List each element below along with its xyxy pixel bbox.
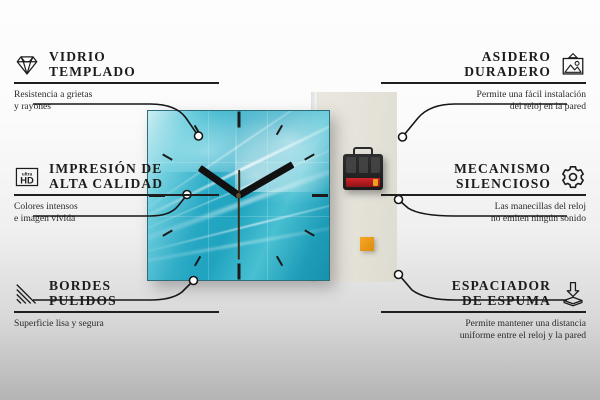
feature-header: ESPACIADOR DE ESPUMA — [381, 279, 586, 308]
feature-bordes-pulidos: BORDES PULIDOS Superficie lisa y segura — [14, 279, 219, 330]
gear-icon — [560, 164, 586, 190]
feature-title: ESPACIADOR DE ESPUMA — [452, 279, 551, 308]
feature-divider — [14, 194, 219, 196]
feature-title-line: BORDES — [49, 279, 117, 294]
feature-title-line: MECANISMO — [454, 162, 551, 177]
clock-center-hub — [236, 193, 241, 198]
feature-title-line: ESPACIADOR — [452, 279, 551, 294]
feature-header: ultra HD IMPRESIÓN DE ALTA CALIDAD — [14, 162, 219, 191]
clock-second-hand-tail — [238, 169, 240, 195]
feature-description: Resistencia a grietas y rayones — [14, 89, 219, 114]
clock-tick — [237, 111, 240, 127]
clock-tick — [237, 264, 240, 280]
feature-title: ASIDERO DURADERO — [464, 50, 551, 79]
feature-title-line: ALTA CALIDAD — [49, 177, 163, 192]
feature-title-line: VIDRIO — [49, 50, 136, 65]
feature-title-line: TEMPLADO — [49, 65, 136, 80]
infographic-stage: VIDRIO TEMPLADO Resistencia a grietas y … — [0, 0, 600, 400]
feature-espaciador-de-espuma: ESPACIADOR DE ESPUMA Permite mantener un… — [381, 279, 586, 343]
feature-description: Las manecillas del reloj no emiten ningú… — [381, 201, 586, 226]
feature-title-line: PULIDOS — [49, 294, 117, 309]
feature-vidrio-templado: VIDRIO TEMPLADO Resistencia a grietas y … — [14, 50, 219, 114]
feature-description-line: no emiten ningún sonido — [381, 213, 586, 226]
ultra-hd-large-text: HD — [20, 175, 34, 185]
feature-divider — [14, 82, 219, 84]
feature-title: BORDES PULIDOS — [49, 279, 117, 308]
feature-description-line: y rayones — [14, 101, 219, 114]
clock-second-hand — [238, 195, 240, 259]
feature-description-line: Superficie lisa y segura — [14, 318, 219, 331]
feature-description: Permite mantener una distancia uniforme … — [381, 318, 586, 343]
feature-divider — [381, 311, 586, 313]
down-arrow-pad-icon — [560, 281, 586, 307]
clock-tick — [276, 256, 283, 267]
feature-description-line: Colores intensos — [14, 201, 219, 214]
feature-title-line: IMPRESIÓN DE — [49, 162, 163, 177]
feature-header: MECANISMO SILENCIOSO — [381, 162, 586, 191]
clock-mechanism — [343, 154, 383, 190]
feature-description-line: Permite una fácil instalación — [381, 89, 586, 102]
battery — [346, 178, 380, 187]
mechanism-body — [346, 157, 380, 173]
feature-header: ASIDERO DURADERO — [381, 50, 586, 79]
feature-divider — [381, 194, 586, 196]
feature-description-line: Permite mantener una distancia — [381, 318, 586, 331]
diagonal-lines-icon — [14, 281, 40, 307]
feature-title: IMPRESIÓN DE ALTA CALIDAD — [49, 162, 163, 191]
feature-title-line: DURADERO — [464, 65, 551, 80]
picture-frame-icon — [560, 52, 586, 78]
feature-title-line: ASIDERO — [482, 50, 551, 65]
feature-mecanismo-silencioso: MECANISMO SILENCIOSO Las manecillas del … — [381, 162, 586, 226]
feature-asidero-duradero: ASIDERO DURADERO Permite una fácil insta… — [381, 50, 586, 114]
feature-description: Permite una fácil instalación del reloj … — [381, 89, 586, 114]
diamond-icon — [14, 52, 40, 78]
glass-panel-line — [267, 111, 268, 280]
feature-description: Colores intensos e imagen vívida — [14, 201, 219, 226]
clock-tick — [312, 194, 328, 197]
feature-header: VIDRIO TEMPLADO — [14, 50, 219, 79]
feature-title: VIDRIO TEMPLADO — [49, 50, 136, 79]
feature-title: MECANISMO SILENCIOSO — [454, 162, 551, 191]
foam-spacer — [360, 237, 374, 251]
feature-title-line: SILENCIOSO — [456, 177, 551, 192]
ultra-hd-icon: ultra HD — [14, 164, 40, 190]
feature-description-line: Resistencia a grietas — [14, 89, 219, 102]
feature-description-line: del reloj en la pared — [381, 101, 586, 114]
feature-divider — [381, 82, 586, 84]
feature-description: Superficie lisa y segura — [14, 318, 219, 331]
feature-divider — [14, 311, 219, 313]
feature-description-line: e imagen vívida — [14, 213, 219, 226]
feature-description-line: Las manecillas del reloj — [381, 201, 586, 214]
feature-impresion-alta-calidad: ultra HD IMPRESIÓN DE ALTA CALIDAD Color… — [14, 162, 219, 226]
feature-header: BORDES PULIDOS — [14, 279, 219, 308]
feature-description-line: uniforme entre el reloj y la pared — [381, 330, 586, 343]
feature-title-line: DE ESPUMA — [462, 294, 551, 309]
